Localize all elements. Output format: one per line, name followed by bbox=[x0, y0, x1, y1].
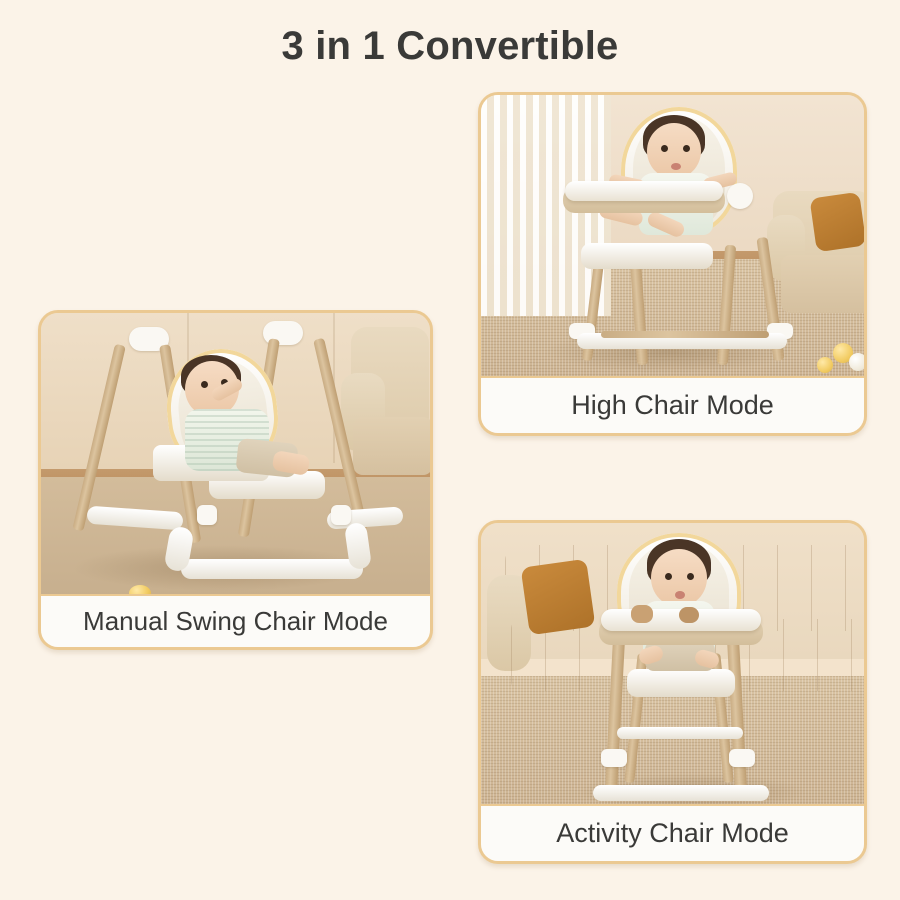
throw-pillow bbox=[521, 559, 596, 636]
chair-base-rail bbox=[593, 785, 769, 801]
chair-cross-rail bbox=[617, 727, 743, 739]
card-manual-swing-chair[interactable]: Manual Swing Chair Mode bbox=[38, 310, 433, 650]
photo-manual-swing-chair bbox=[41, 313, 430, 596]
leg-joint-right bbox=[729, 749, 755, 767]
caption-manual-swing-chair: Manual Swing Chair Mode bbox=[83, 606, 388, 637]
frame-joint-left bbox=[197, 505, 217, 525]
card-activity-chair[interactable]: Activity Chair Mode bbox=[478, 520, 867, 864]
card-high-chair[interactable]: High Chair Mode bbox=[478, 92, 867, 436]
baby-eye-left bbox=[201, 381, 208, 388]
chair-footrest bbox=[581, 243, 713, 269]
caption-high-chair: High Chair Mode bbox=[571, 390, 774, 421]
photo-activity-chair bbox=[481, 523, 864, 806]
tray-release-knob bbox=[727, 183, 753, 209]
caption-bar-manual-swing-chair: Manual Swing Chair Mode bbox=[41, 594, 430, 647]
frame-joint-right bbox=[331, 505, 351, 525]
baby-eye-right bbox=[687, 573, 694, 580]
toy-ball-yellow-2 bbox=[817, 357, 833, 373]
page-title: 3 in 1 Convertible bbox=[0, 24, 900, 69]
toy-bear-left bbox=[631, 605, 653, 623]
chair-footrest bbox=[627, 669, 735, 697]
baby-mouth bbox=[675, 591, 685, 599]
armchair-seat bbox=[353, 417, 430, 475]
throw-pillow bbox=[809, 192, 864, 252]
baby-eye-right bbox=[683, 145, 690, 152]
photo-high-chair bbox=[481, 95, 864, 378]
chair-cross-bar bbox=[601, 331, 769, 338]
feeding-tray bbox=[565, 181, 723, 201]
caption-bar-high-chair: High Chair Mode bbox=[481, 376, 864, 433]
baby-eye-left bbox=[665, 573, 672, 580]
caption-bar-activity-chair: Activity Chair Mode bbox=[481, 804, 864, 861]
baby-eye-left bbox=[661, 145, 668, 152]
frame-base-front bbox=[181, 559, 363, 579]
baby-mouth bbox=[671, 163, 681, 170]
toy-ball-white bbox=[849, 353, 864, 371]
sofa-seat bbox=[781, 255, 864, 313]
leg-joint-left bbox=[601, 749, 627, 767]
baby-head bbox=[647, 123, 701, 179]
toy-bear-right bbox=[679, 607, 699, 623]
caption-activity-chair: Activity Chair Mode bbox=[556, 818, 789, 849]
